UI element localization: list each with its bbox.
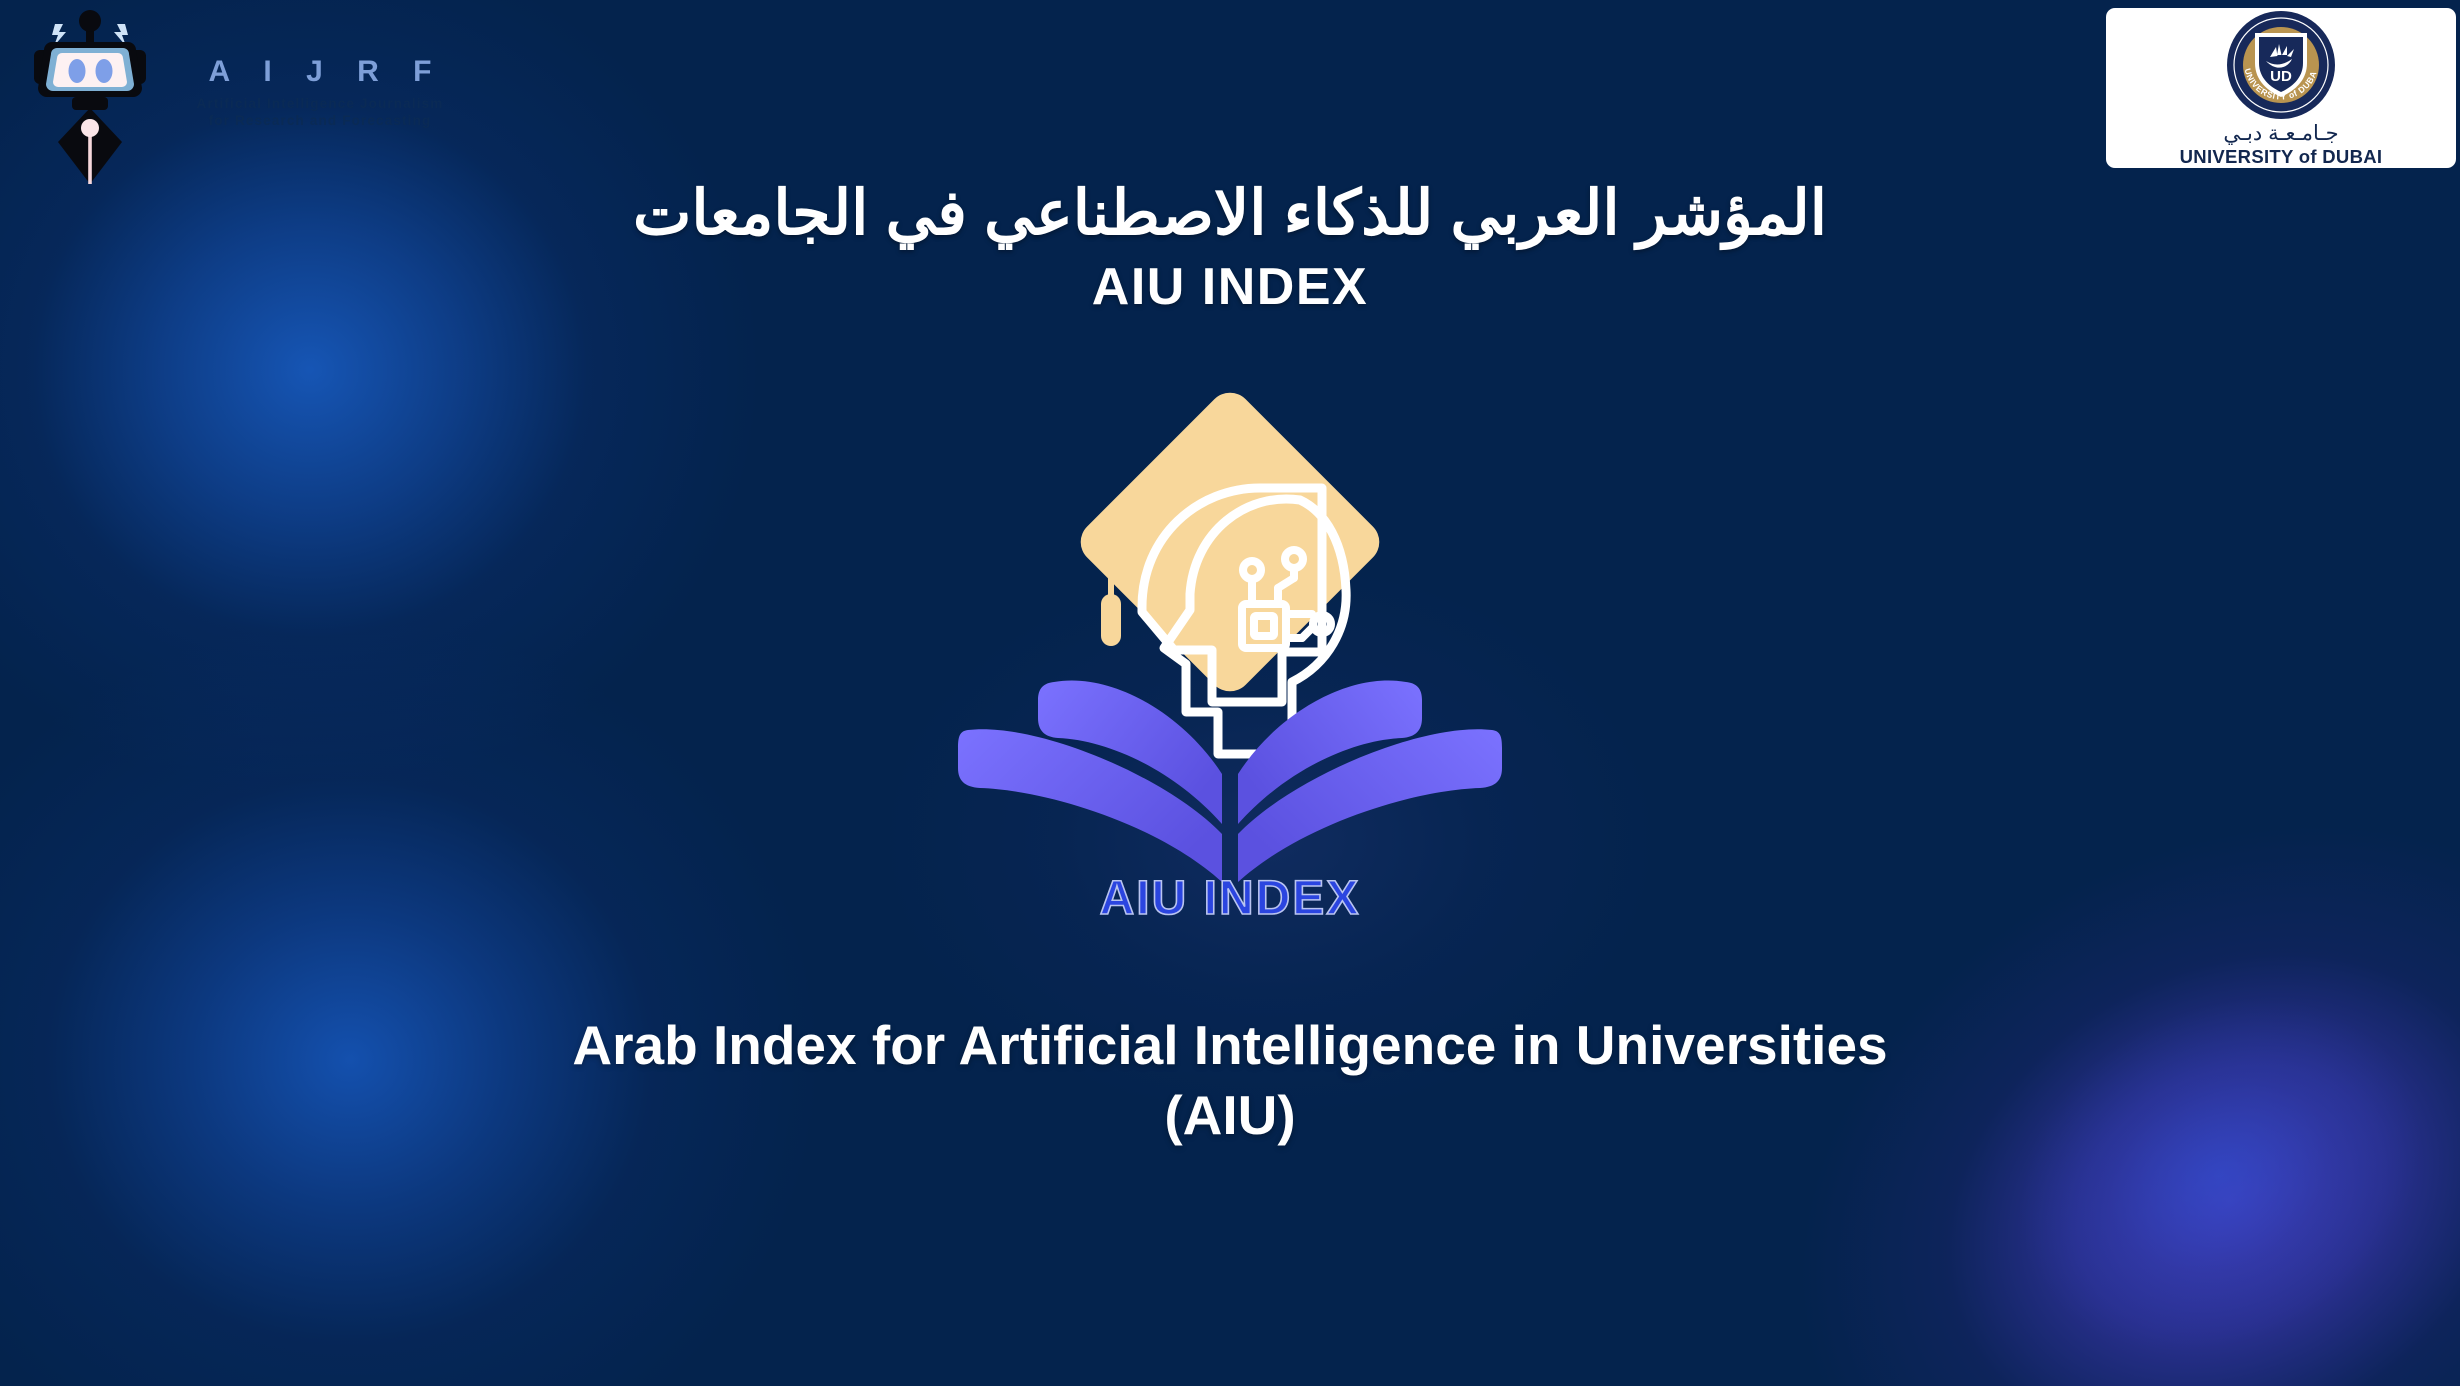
heading-block: المؤشر العربي للذكاء الاصطناعي في الجامع… bbox=[0, 178, 2460, 318]
aijrf-logo: A I J R F Artificial Intelligence Journa… bbox=[30, 8, 490, 188]
aiu-index-emblem: AIU INDEX bbox=[950, 382, 1510, 922]
page-title-index: AIU INDEX bbox=[0, 256, 2460, 318]
aijrf-tagline-line2: for Research and Forecasting bbox=[155, 112, 485, 130]
background-glow-bottom-right-core bbox=[1957, 931, 2460, 1386]
emblem-label: AIU INDEX bbox=[1100, 872, 1361, 922]
subtitle-line1: Arab Index for Artificial Intelligence i… bbox=[0, 1010, 2460, 1080]
subtitle-line2: (AIU) bbox=[0, 1080, 2460, 1150]
aijrf-wordmark: A I J R F bbox=[155, 56, 485, 88]
background-glow-mid-left bbox=[0, 620, 820, 1386]
ud-name-arabic: جـامـعـة دبـي bbox=[2223, 123, 2338, 144]
open-book-petals bbox=[958, 680, 1502, 882]
robot-pen-icon bbox=[30, 8, 150, 188]
presentation-slide: A I J R F Artificial Intelligence Journa… bbox=[0, 0, 2460, 1386]
aijrf-tagline: Artificial Intelligence Journalism for R… bbox=[155, 95, 485, 131]
aijrf-tagline-line1: Artificial Intelligence Journalism bbox=[155, 95, 485, 113]
ud-name-english: UNIVERSITY of DUBAI bbox=[2180, 146, 2383, 167]
subtitle-block: Arab Index for Artificial Intelligence i… bbox=[0, 1010, 2460, 1151]
university-of-dubai-crest: UD جامعة دبي UNIVERSITY of DUBAI bbox=[2225, 9, 2337, 121]
page-title-arabic: المؤشر العربي للذكاء الاصطناعي في الجامع… bbox=[0, 178, 2460, 250]
aijrf-text-block: A I J R F Artificial Intelligence Journa… bbox=[155, 56, 485, 130]
university-of-dubai-logo-card: UD جامعة دبي UNIVERSITY of DUBAI جـامـعـ… bbox=[2106, 8, 2456, 168]
svg-text:UD: UD bbox=[2270, 68, 2292, 85]
